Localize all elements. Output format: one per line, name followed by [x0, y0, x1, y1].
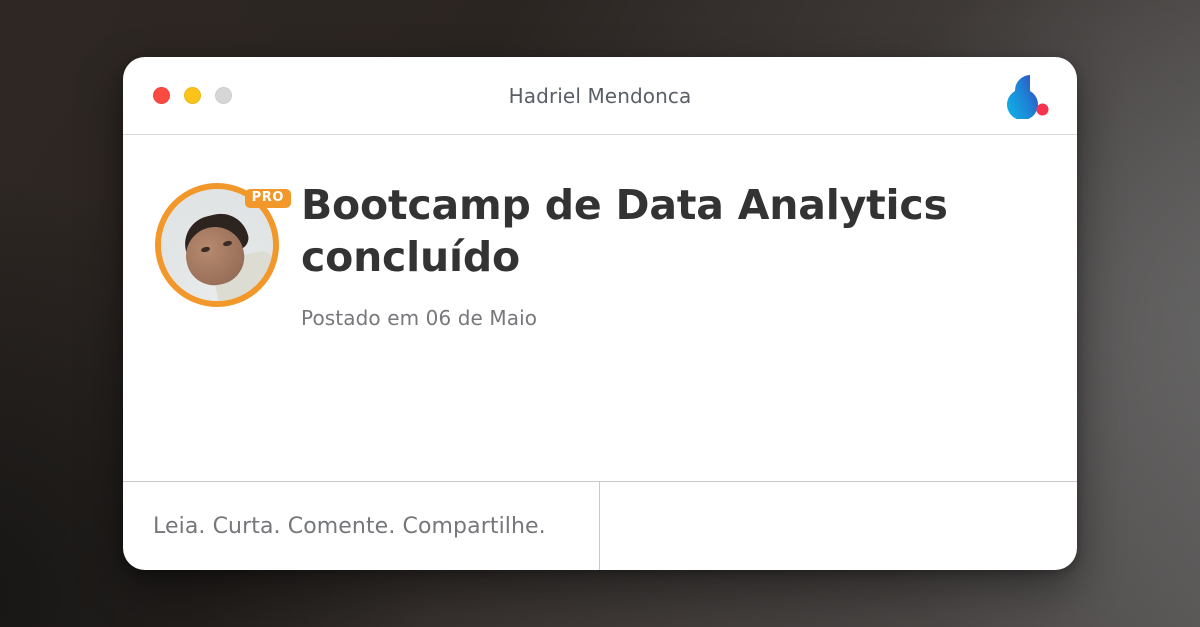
pro-badge: PRO — [245, 189, 291, 208]
window-controls — [153, 87, 232, 104]
post-date: Postado em 06 de Maio — [301, 306, 1001, 330]
post-body: PRO Bootcamp de Data Analytics concluído… — [123, 135, 1077, 481]
card-footer: Leia. Curta. Comente. Compartilhe. — [123, 481, 1077, 570]
footer-tagline: Leia. Curta. Comente. Compartilhe. — [153, 514, 546, 539]
footer-left-cell: Leia. Curta. Comente. Compartilhe. — [123, 482, 600, 570]
minimize-window-button[interactable] — [184, 87, 201, 104]
window-titlebar: Hadriel Mendonca — [123, 57, 1077, 135]
brand-droplet-logo[interactable] — [999, 73, 1051, 119]
footer-right-cell — [600, 482, 1077, 570]
avatar[interactable]: PRO — [155, 183, 279, 307]
post-header: PRO Bootcamp de Data Analytics concluído… — [155, 177, 1037, 330]
maximize-window-button[interactable] — [215, 87, 232, 104]
post-text-column: Bootcamp de Data Analytics concluído Pos… — [301, 177, 1001, 330]
window-title: Hadriel Mendonca — [123, 84, 1077, 108]
close-window-button[interactable] — [153, 87, 170, 104]
page-title: Bootcamp de Data Analytics concluído — [301, 179, 1001, 284]
app-window-card: Hadriel Mendonca — [123, 57, 1077, 570]
